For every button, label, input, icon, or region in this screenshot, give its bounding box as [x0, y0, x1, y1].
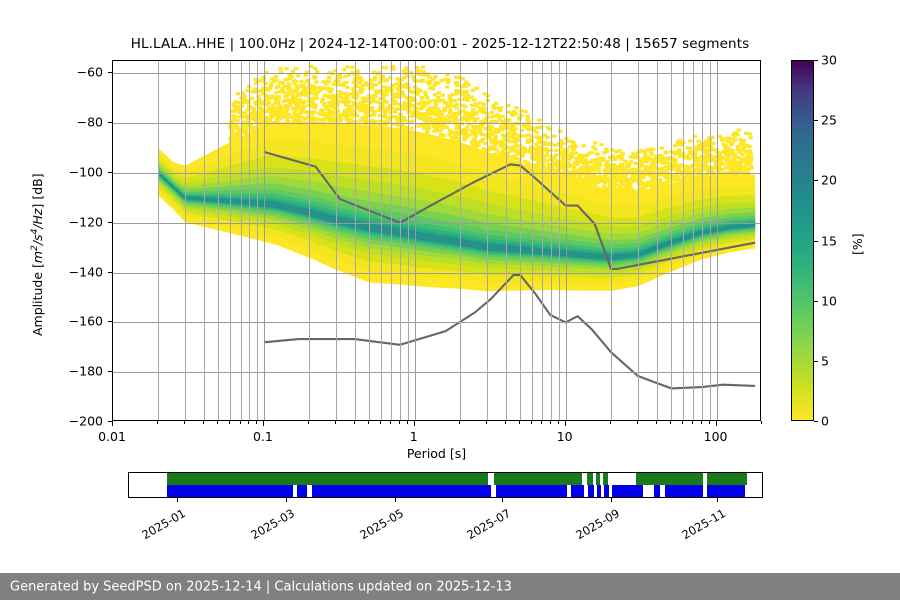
x-axis-tick-mark — [407, 421, 408, 424]
x-axis-tick-mark — [368, 421, 369, 424]
grid-line-vertical — [566, 61, 567, 420]
x-axis-tick-mark — [505, 421, 506, 424]
grid-line-vertical — [671, 61, 672, 420]
timeline-tick-mark — [395, 498, 396, 502]
timeline-tick-label: 2025-07 — [454, 506, 513, 548]
x-axis-tick-mark — [541, 421, 542, 424]
colorbar-tick-label: 20 — [821, 173, 837, 188]
x-axis-tick-mark — [565, 421, 566, 426]
timeline-segment-blue — [707, 485, 745, 497]
grid-line-vertical — [559, 61, 560, 420]
timeline-tick-mark — [177, 498, 178, 502]
grid-line-vertical — [185, 61, 186, 420]
grid-line-vertical — [611, 61, 612, 420]
y-axis-tick-label: −140 — [0, 264, 103, 279]
grid-line-vertical — [551, 61, 552, 420]
x-axis-tick-mark — [656, 421, 657, 424]
x-axis-tick-mark — [157, 421, 158, 424]
timeline-segment-green — [587, 473, 593, 485]
grid-line-vertical — [400, 61, 401, 420]
grid-line-horizontal — [113, 372, 760, 373]
footer-text: Generated by SeedPSD on 2025-12-14 | Cal… — [10, 579, 512, 594]
colorbar — [791, 60, 814, 421]
colorbar-tick-label: 15 — [821, 233, 837, 248]
timeline-segment-blue — [654, 485, 660, 497]
timeline-segment-green — [707, 473, 747, 485]
y-axis-tick-label: −160 — [0, 314, 103, 329]
psd-plot-axes — [112, 60, 761, 421]
timeline-segment-blue — [496, 485, 567, 497]
psd-density-plot — [113, 61, 761, 421]
grid-line-vertical — [542, 61, 543, 420]
timeline-segment-blue — [571, 485, 584, 497]
grid-line-vertical — [702, 61, 703, 420]
colorbar-tick-label: 5 — [821, 353, 829, 368]
timeline-tick-mark — [502, 498, 503, 502]
y-axis-tick-mark — [108, 222, 112, 223]
y-axis-tick-mark — [108, 272, 112, 273]
colorbar-tick-label: 25 — [821, 113, 837, 128]
x-axis-tick-mark — [248, 421, 249, 424]
x-axis-tick-mark — [486, 421, 487, 424]
x-axis-tick-mark — [308, 421, 309, 424]
colorbar-tick-mark — [814, 180, 818, 181]
timeline-tick-mark — [717, 498, 718, 502]
x-axis-tick-mark — [692, 421, 693, 424]
grid-line-vertical — [391, 61, 392, 420]
x-axis-tick-label: 100 — [704, 429, 728, 444]
x-axis-tick-mark — [637, 421, 638, 424]
grid-line-vertical — [683, 61, 684, 420]
x-axis-tick-mark — [335, 421, 336, 424]
timeline-tick-mark — [611, 498, 612, 502]
colorbar-tick-mark — [814, 120, 818, 121]
grid-line-vertical — [657, 61, 658, 420]
timeline-tick-label: 2025-01 — [129, 506, 188, 548]
x-axis-tick-mark — [217, 421, 218, 424]
grid-line-vertical — [693, 61, 694, 420]
data-coverage-timeline — [128, 472, 763, 498]
grid-line-vertical — [309, 61, 310, 420]
y-axis-tick-mark — [108, 122, 112, 123]
x-axis-tick-mark — [682, 421, 683, 424]
timeline-segment-blue — [612, 485, 642, 497]
grid-line-vertical — [506, 61, 507, 420]
x-axis-tick-label: 1 — [410, 429, 418, 444]
x-axis-tick-mark — [459, 421, 460, 424]
grid-line-vertical — [249, 61, 250, 420]
grid-line-vertical — [487, 61, 488, 420]
grid-line-vertical — [264, 61, 265, 420]
x-axis-tick-mark — [203, 421, 204, 424]
colorbar-tick-label: 10 — [821, 293, 837, 308]
colorbar-tick-mark — [814, 421, 818, 422]
footer-bar: Generated by SeedPSD on 2025-12-14 | Cal… — [0, 573, 900, 600]
grid-line-vertical — [460, 61, 461, 420]
y-axis-tick-mark — [108, 72, 112, 73]
grid-line-vertical — [241, 61, 242, 420]
x-axis-tick-mark — [184, 421, 185, 424]
x-axis-tick-mark — [761, 421, 762, 424]
y-axis-tick-label: −200 — [0, 414, 103, 429]
grid-line-vertical — [415, 61, 416, 420]
timeline-segment-blue — [604, 485, 609, 497]
colorbar-tick-mark — [814, 241, 818, 242]
grid-line-vertical — [520, 61, 521, 420]
timeline-segment-green — [596, 473, 599, 485]
timeline-segment-green — [494, 473, 583, 485]
x-axis-tick-mark — [354, 421, 355, 424]
x-axis-tick-mark — [531, 421, 532, 424]
colorbar-tick-label: 30 — [821, 53, 837, 68]
x-axis-tick-mark — [240, 421, 241, 424]
x-axis-tick-mark — [229, 421, 230, 424]
timeline-tick-mark — [286, 498, 287, 502]
grid-line-vertical — [204, 61, 205, 420]
x-axis-tick-mark — [701, 421, 702, 424]
x-axis-tick-mark — [716, 421, 717, 426]
y-axis-tick-label: −80 — [0, 115, 103, 130]
x-axis-tick-mark — [390, 421, 391, 424]
timeline-segment-blue — [665, 485, 703, 497]
x-axis-tick-mark — [263, 421, 264, 426]
x-axis-tick-mark — [610, 421, 611, 424]
colorbar-label: [%] — [850, 233, 865, 255]
grid-line-vertical — [717, 61, 718, 420]
grid-line-vertical — [230, 61, 231, 420]
grid-line-horizontal — [113, 322, 760, 323]
x-axis-tick-label: 0.01 — [98, 429, 126, 444]
x-axis-tick-mark — [550, 421, 551, 424]
grid-line-horizontal — [113, 73, 760, 74]
page-title: HL.LALA..HHE | 100.0Hz | 2024-12-14T00:0… — [0, 36, 880, 52]
y-axis-tick-mark — [108, 321, 112, 322]
x-axis-tick-mark — [670, 421, 671, 424]
y-axis-tick-label: −60 — [0, 65, 103, 80]
grid-line-vertical — [710, 61, 711, 420]
colorbar-tick-mark — [814, 301, 818, 302]
y-axis-label: Amplitude [m2/s4/Hz] [dB] — [30, 173, 45, 336]
grid-line-vertical — [336, 61, 337, 420]
timeline-segment-blue — [167, 485, 293, 497]
grid-line-vertical — [381, 61, 382, 420]
y-axis-tick-mark — [108, 371, 112, 372]
timeline-tick-label: 2025-09 — [563, 506, 622, 548]
grid-line-vertical — [408, 61, 409, 420]
grid-line-vertical — [369, 61, 370, 420]
timeline-segment-blue — [588, 485, 594, 497]
x-axis-tick-label: 0.1 — [253, 429, 273, 444]
timeline-tick-label: 2025-03 — [238, 506, 297, 548]
y-axis-tick-label: −120 — [0, 214, 103, 229]
x-axis-label: Period [s] — [112, 446, 761, 461]
x-axis-tick-mark — [112, 421, 113, 426]
timeline-segment-green — [167, 473, 488, 485]
grid-line-vertical — [257, 61, 258, 420]
timeline-segment-blue — [297, 485, 307, 497]
colorbar-tick-mark — [814, 361, 818, 362]
grid-line-vertical — [158, 61, 159, 420]
x-axis-tick-mark — [519, 421, 520, 424]
grid-line-horizontal — [113, 273, 760, 274]
x-axis-tick-mark — [414, 421, 415, 426]
x-axis-tick-mark — [256, 421, 257, 424]
x-axis-tick-label: 10 — [557, 429, 573, 444]
timeline-segment-blue — [312, 485, 490, 497]
colorbar-tick-label: 0 — [821, 414, 829, 429]
grid-line-vertical — [638, 61, 639, 420]
y-axis-tick-label: −180 — [0, 364, 103, 379]
timeline-segment-green — [636, 473, 702, 485]
x-axis-tick-mark — [709, 421, 710, 424]
colorbar-tick-mark — [814, 60, 818, 61]
x-axis-tick-mark — [380, 421, 381, 424]
timeline-tick-label: 2025-11 — [669, 506, 728, 548]
y-axis-tick-mark — [108, 172, 112, 173]
grid-line-vertical — [532, 61, 533, 420]
y-axis-tick-label: −100 — [0, 165, 103, 180]
grid-line-vertical — [218, 61, 219, 420]
grid-line-horizontal — [113, 223, 760, 224]
grid-line-horizontal — [113, 173, 760, 174]
timeline-tick-label: 2025-05 — [347, 506, 406, 548]
timeline-segment-blue — [597, 485, 601, 497]
x-axis-tick-mark — [558, 421, 559, 424]
grid-line-horizontal — [113, 123, 760, 124]
x-axis-tick-mark — [399, 421, 400, 424]
grid-line-vertical — [355, 61, 356, 420]
timeline-segment-green — [603, 473, 608, 485]
